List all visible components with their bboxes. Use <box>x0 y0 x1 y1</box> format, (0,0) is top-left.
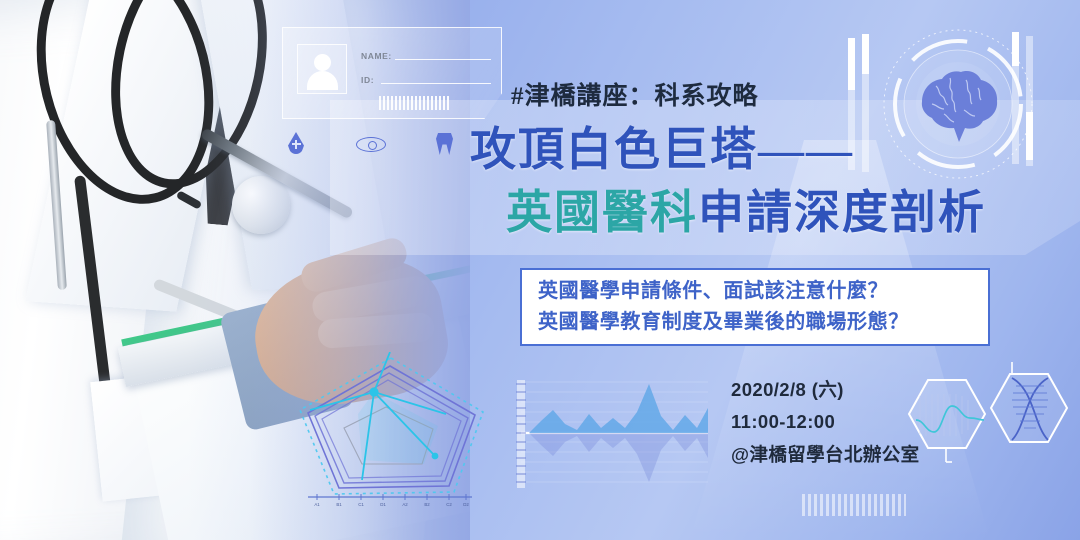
subtitle-line-1: 英國醫學申請條件、面試該注意什麼？ <box>538 276 972 307</box>
tooth-icon <box>436 133 453 155</box>
id-card: NAME: ID: <box>282 27 502 119</box>
title-line-2-highlight: 英國醫科 <box>506 187 698 238</box>
blood-drop-icon <box>288 132 304 154</box>
eye-icon <box>356 137 386 152</box>
svg-text:D1: D1 <box>380 502 386 507</box>
gauge-fill <box>862 34 869 74</box>
event-time: 11:00-12:00 <box>731 406 920 438</box>
barcode-icon <box>379 96 451 110</box>
id-card-name-rule <box>395 59 491 60</box>
avatar-body <box>307 71 338 90</box>
subtitle-box: 英國醫學申請條件、面試該注意什麼？ 英國醫學教育制度及畢業後的職場形態？ <box>520 268 990 346</box>
promo-banner: NAME: ID: A1B1 C <box>0 0 1080 540</box>
id-card-name-label: NAME: <box>361 51 392 61</box>
event-location: @津橋留學台北辦公室 <box>731 439 920 471</box>
id-card-id-rule <box>381 83 491 84</box>
svg-text:A2: A2 <box>402 502 408 507</box>
title-line-1: 攻頂白色巨塔—— <box>470 118 1030 181</box>
svg-text:C1: C1 <box>358 502 364 507</box>
hexagon-modules <box>900 362 1080 502</box>
svg-text:D2: D2 <box>463 502 469 507</box>
id-card-id-label: ID: <box>361 75 374 85</box>
event-info: 2020/2/8 (六) 11:00-12:00 @津橋留學台北辦公室 <box>731 374 920 471</box>
gauge-fill <box>848 38 855 90</box>
svg-text:C2: C2 <box>446 502 452 507</box>
hashtag-label: #津橋講座：科系攻略 <box>511 76 759 112</box>
page-title: 攻頂白色巨塔—— 英國醫科申請深度剖析 <box>470 118 1030 245</box>
svg-text:B2: B2 <box>424 502 430 507</box>
radar-pentagon-chart <box>286 352 496 507</box>
avatar-head <box>314 54 331 71</box>
subtitle-line-2: 英國醫學教育制度及畢業後的職場形態？ <box>538 307 972 338</box>
radar-axis-scale: A1B1 C1D1 A2B2 C2D2 <box>306 494 474 508</box>
person-avatar-icon <box>297 44 347 94</box>
barcode-icon <box>802 494 906 516</box>
waveform-chart <box>503 372 708 497</box>
title-line-2-rest: 申請深度剖析 <box>698 187 986 238</box>
svg-text:A1: A1 <box>314 502 320 507</box>
title-line-2: 英國醫科申請深度剖析 <box>470 181 1030 244</box>
svg-text:B1: B1 <box>336 502 342 507</box>
gauge-fill <box>1012 32 1019 66</box>
event-date: 2020/2/8 (六) <box>731 374 920 406</box>
medical-icons-row <box>284 132 454 162</box>
